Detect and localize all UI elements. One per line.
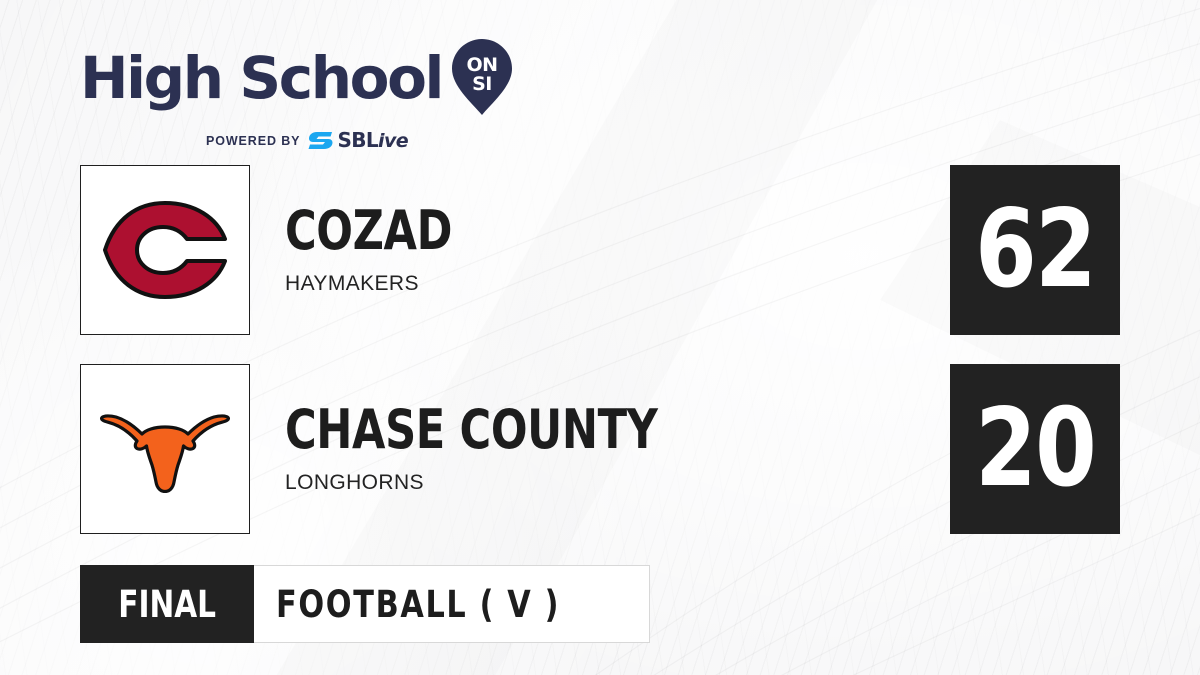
team-row: COZAD HAYMAKERS	[80, 165, 494, 335]
team-score-box: 62	[950, 165, 1120, 335]
cozad-c-logo-icon	[101, 195, 229, 305]
brand-header: High School ON SI POWERED BY SBLive	[80, 36, 520, 151]
on-si-pin-icon: ON SI	[451, 38, 513, 121]
team-score-box: 20	[950, 364, 1120, 534]
brand-title-row: High School ON SI	[80, 36, 520, 121]
team-mascot: LONGHORNS	[285, 471, 751, 495]
scoreboard-graphic: High School ON SI POWERED BY SBLive	[0, 0, 1200, 675]
game-status-label: FINAL	[118, 583, 216, 626]
sblive-logo: SBLive	[308, 130, 408, 151]
team-text-block: COZAD HAYMAKERS	[285, 204, 494, 296]
powered-by-label: POWERED BY	[206, 134, 300, 148]
sport-label-box: FOOTBALL ( V )	[254, 565, 650, 643]
longhorn-logo-icon	[100, 405, 230, 493]
team-logo-box	[80, 364, 250, 534]
sblive-wordmark: SBLive	[337, 130, 408, 151]
team-logo-box	[80, 165, 250, 335]
team-row: CHASE COUNTY LONGHORNS	[80, 364, 751, 534]
brand-title: High School	[80, 51, 442, 106]
sblive-word-main: SBL	[337, 128, 378, 152]
status-bar: FINAL FOOTBALL ( V )	[80, 565, 650, 643]
game-status-badge: FINAL	[80, 565, 254, 643]
sblive-s-mark	[308, 130, 334, 151]
team-name: CHASE COUNTY	[285, 403, 658, 457]
sport-label: FOOTBALL ( V )	[276, 583, 560, 626]
team-name: COZAD	[285, 204, 452, 258]
team-text-block: CHASE COUNTY LONGHORNS	[285, 403, 751, 495]
team-score: 62	[975, 196, 1095, 304]
svg-text:SI: SI	[472, 73, 492, 95]
team-mascot: HAYMAKERS	[285, 272, 494, 296]
powered-by-row: POWERED BY SBLive	[80, 130, 520, 151]
team-score: 20	[975, 395, 1095, 503]
sblive-word-italic: ive	[378, 130, 408, 152]
